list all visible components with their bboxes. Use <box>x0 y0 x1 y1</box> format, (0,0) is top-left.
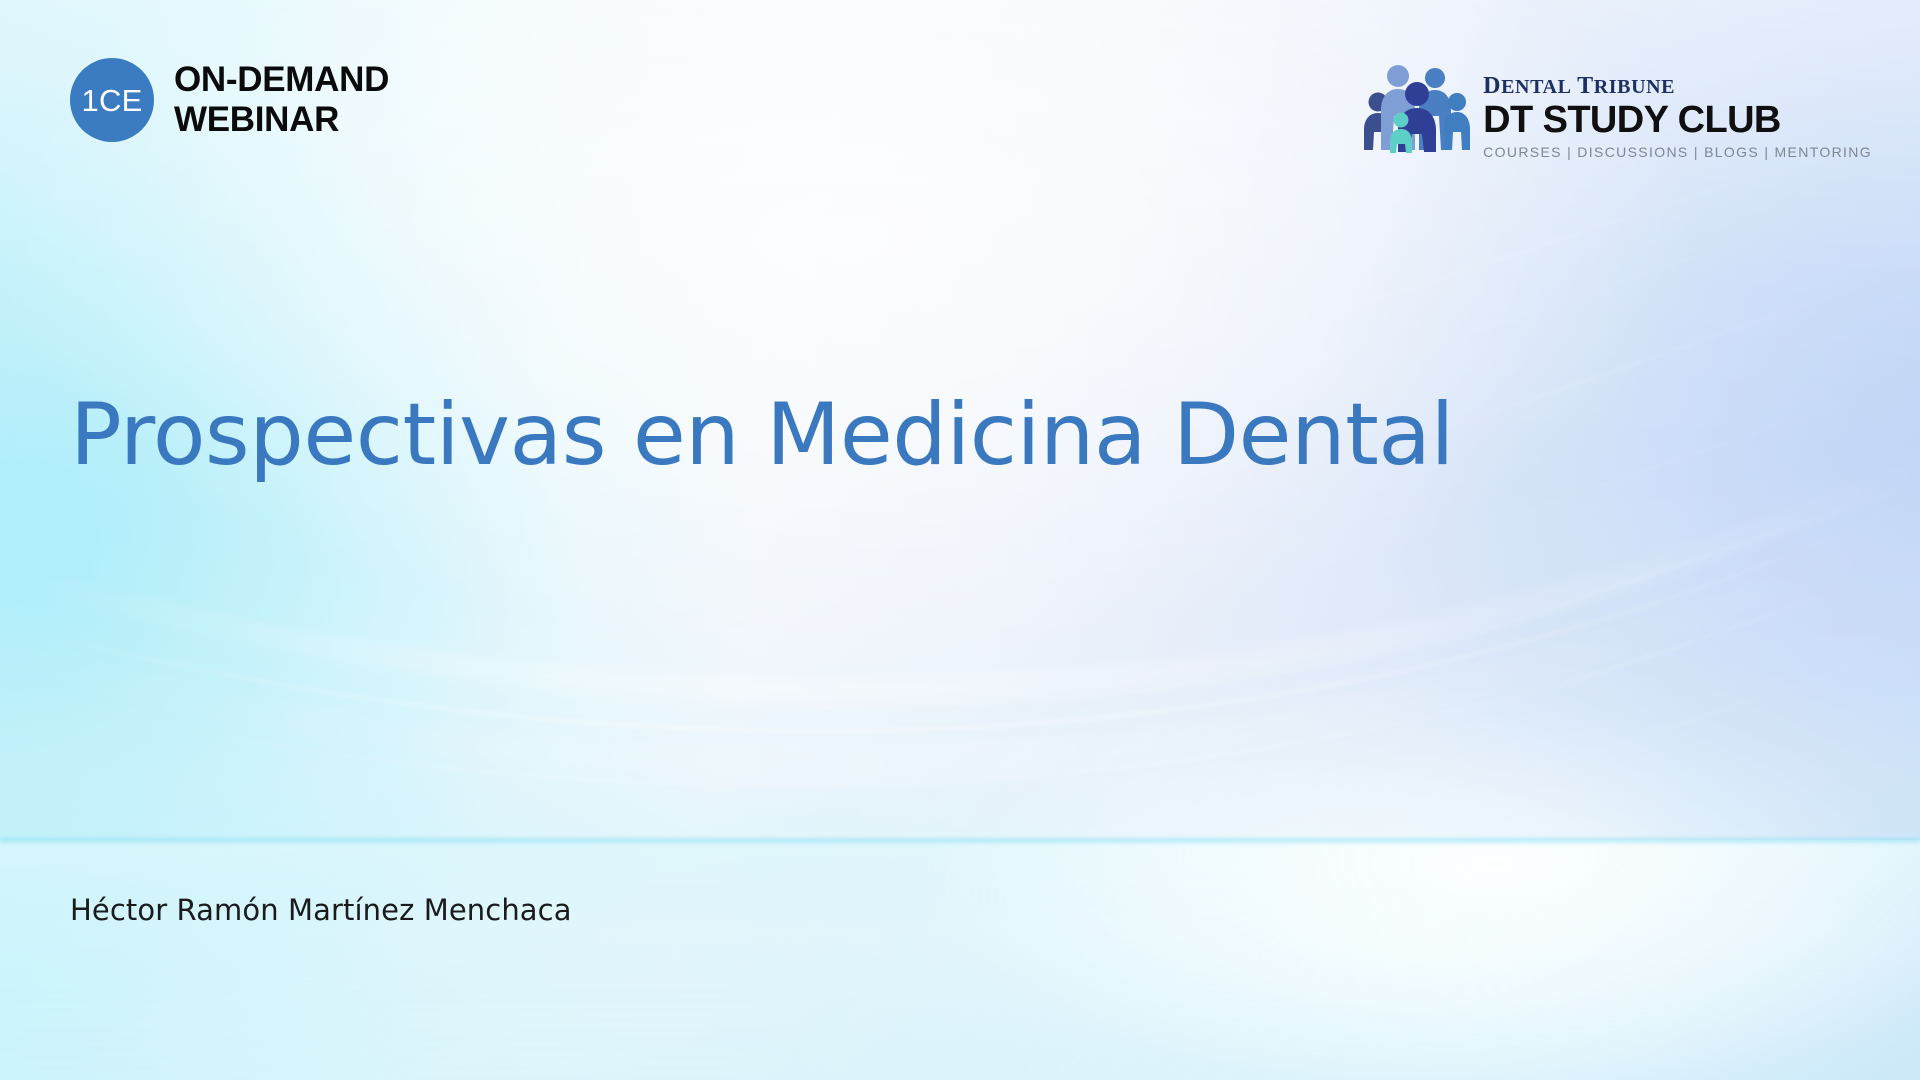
people-group-icon <box>1361 58 1473 154</box>
logo-brand-name: DT STUDY CLUB <box>1483 101 1872 140</box>
dt-study-club-logo[interactable]: DENTAL TRIBUNE DT STUDY CLUB COURSES | D… <box>1361 58 1872 159</box>
logo-publisher-ental: ENTAL <box>1501 76 1571 98</box>
logo-publisher-cap-d: D <box>1483 73 1501 99</box>
webinar-type-line-1: ON-DEMAND <box>174 60 389 100</box>
presenter-name: Héctor Ramón Martínez Menchaca <box>70 893 572 927</box>
background-below-horizon-glow <box>864 840 1920 1080</box>
webinar-type-line-2: WEBINAR <box>174 100 389 140</box>
webinar-type-label: ON-DEMAND WEBINAR <box>174 60 389 140</box>
logo-publisher-ribune: RIBUNE <box>1594 76 1675 98</box>
ce-credit-badge-label: 1CE <box>82 85 143 116</box>
logo-wordmark: DENTAL TRIBUNE DT STUDY CLUB COURSES | D… <box>1483 58 1872 159</box>
page-title: Prospectivas en Medicina Dental <box>70 390 1670 481</box>
logo-publisher-cap-t: T <box>1577 73 1594 99</box>
ce-credit-badge: 1CE <box>70 58 154 142</box>
webinar-type-block: 1CE ON-DEMAND WEBINAR <box>70 58 389 142</box>
logo-tagline: COURSES | DISCUSSIONS | BLOGS | MENTORIN… <box>1483 145 1872 159</box>
background-horizon-line <box>0 836 1920 846</box>
webinar-title-slide: 1CE ON-DEMAND WEBINAR <box>0 0 1920 1080</box>
logo-publisher-name: DENTAL TRIBUNE <box>1483 74 1872 98</box>
